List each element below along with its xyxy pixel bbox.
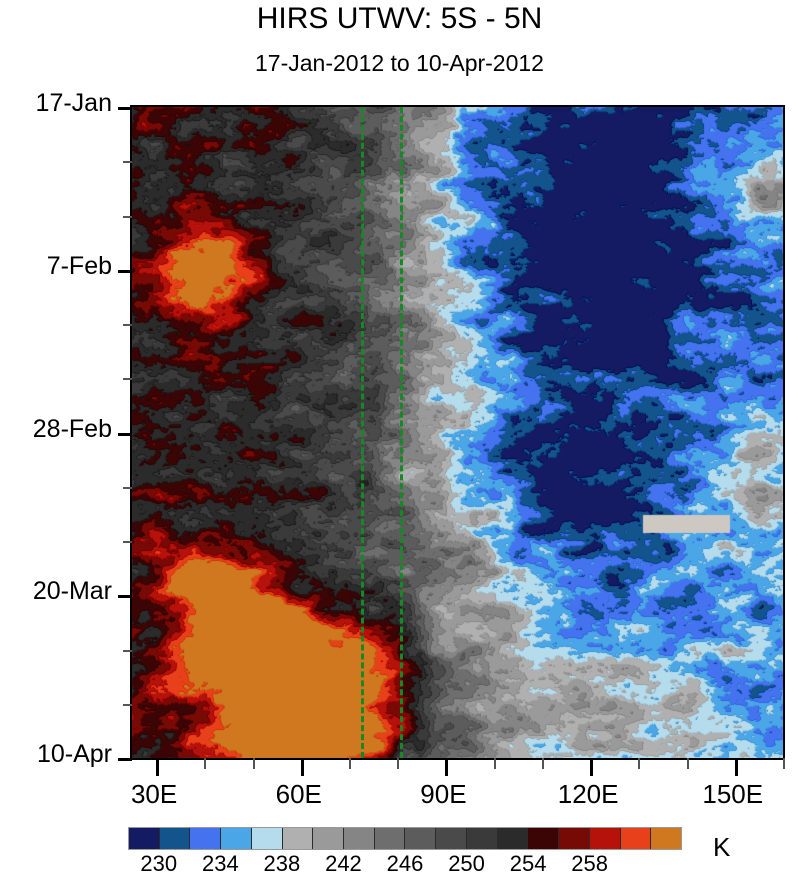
- y-axis-tick-label: 28-Feb: [0, 415, 112, 444]
- colorbar-swatch: [467, 828, 498, 849]
- y-axis-tick-label: 17-Jan: [0, 89, 112, 118]
- x-tick-minor: [349, 758, 351, 769]
- colorbar-swatch: [283, 828, 314, 849]
- colorbar-swatch: [313, 828, 344, 849]
- y-tick-major: [118, 433, 132, 436]
- y-axis-tick-label: 20-Mar: [0, 577, 112, 606]
- colorbar-swatch: [405, 828, 436, 849]
- x-axis-tick-label: 90E: [383, 779, 503, 810]
- y-axis-tick-label: 10-Apr: [0, 740, 112, 769]
- page-title: HIRS UTWV: 5S - 5N: [0, 2, 799, 36]
- colorbar-unit-label: K: [713, 832, 730, 863]
- hovmoller-figure: HIRS UTWV: 5S - 5N 17-Jan-2012 to 10-Apr…: [0, 0, 799, 869]
- colorbar-swatch: [651, 828, 681, 849]
- y-tick-minor: [123, 378, 132, 380]
- x-axis-tick-label: 30E: [94, 779, 214, 810]
- colorbar-swatch: [221, 828, 252, 849]
- colorbar: [128, 827, 682, 850]
- y-tick-minor: [123, 650, 132, 652]
- x-tick-major: [735, 758, 738, 776]
- x-tick-major: [590, 758, 593, 776]
- y-tick-minor: [123, 487, 132, 489]
- colorbar-swatch: [436, 828, 467, 849]
- y-tick-minor: [123, 161, 132, 163]
- x-tick-minor: [494, 758, 496, 769]
- y-tick-major: [118, 758, 132, 761]
- colorbar-swatch: [190, 828, 221, 849]
- x-tick-major: [156, 758, 159, 776]
- x-axis-tick-label: 60E: [239, 779, 359, 810]
- colorbar-swatch: [528, 828, 559, 849]
- colorbar-swatch: [129, 828, 160, 849]
- x-tick-minor: [397, 758, 399, 769]
- x-tick-minor: [638, 758, 640, 769]
- colorbar-swatch: [252, 828, 283, 849]
- x-tick-minor: [542, 758, 544, 769]
- colorbar-swatch: [160, 828, 191, 849]
- y-tick-major: [118, 595, 132, 598]
- x-axis-tick-label: 120E: [528, 779, 648, 810]
- colorbar-swatch: [621, 828, 652, 849]
- page-subtitle: 17-Jan-2012 to 10-Apr-2012: [0, 50, 799, 77]
- x-tick-major: [301, 758, 304, 776]
- plot-area: [130, 105, 785, 760]
- colorbar-swatch: [559, 828, 590, 849]
- x-tick-minor: [253, 758, 255, 769]
- y-tick-minor: [123, 541, 132, 543]
- colorbar-swatch: [590, 828, 621, 849]
- x-tick-major: [445, 758, 448, 776]
- y-tick-minor: [123, 324, 132, 326]
- annotation-vline: [400, 107, 403, 758]
- x-tick-minor: [204, 758, 206, 769]
- colorbar-tick-label: 258: [550, 851, 630, 877]
- x-tick-minor: [783, 758, 785, 769]
- y-tick-minor: [123, 704, 132, 706]
- colorbar-swatch: [344, 828, 375, 849]
- y-tick-major: [118, 107, 132, 110]
- y-axis-tick-label: 7-Feb: [0, 252, 112, 281]
- colorbar-swatch: [375, 828, 406, 849]
- x-tick-minor: [687, 758, 689, 769]
- y-tick-major: [118, 270, 132, 273]
- x-axis-tick-label: 150E: [673, 779, 793, 810]
- contour-field: [132, 107, 783, 758]
- annotation-vline: [361, 107, 364, 758]
- colorbar-swatch: [498, 828, 529, 849]
- y-tick-minor: [123, 216, 132, 218]
